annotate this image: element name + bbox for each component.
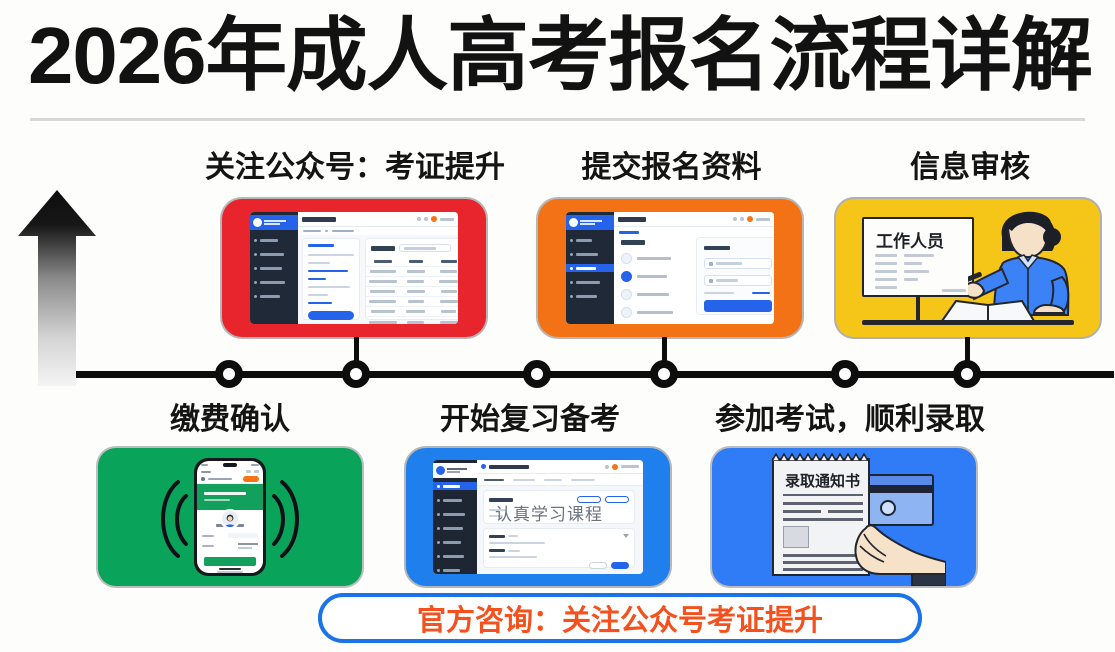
notch (223, 463, 237, 467)
user-name (756, 218, 770, 221)
cell (399, 300, 432, 303)
checklist-item-3[interactable] (621, 289, 689, 300)
status-time (201, 464, 208, 466)
notice-text (208, 478, 232, 480)
sidebar-item-1-active[interactable] (433, 482, 477, 490)
sidebar-item-3[interactable] (433, 510, 477, 518)
sidebar-item-4[interactable] (250, 278, 298, 286)
step-label-4: 缴费确认 (140, 402, 320, 438)
sidebar-item-3[interactable] (250, 264, 298, 272)
cell (432, 310, 458, 313)
cell (399, 310, 432, 313)
more-icon[interactable] (254, 470, 259, 473)
sidebar-item-1[interactable] (566, 236, 614, 244)
form-sidebar[interactable] (566, 212, 614, 324)
checklist-heading (621, 240, 645, 245)
card-top-band (870, 476, 932, 485)
open-book-icon (940, 297, 1036, 323)
field-id-input[interactable] (704, 275, 772, 286)
step-card-4[interactable] (98, 448, 362, 586)
detail-label (202, 545, 214, 547)
id-icon (709, 279, 713, 283)
cell (399, 280, 432, 283)
cell (432, 300, 458, 303)
board-line (875, 262, 897, 265)
title-band: 2026年成人高考报名流程详解 (0, 0, 1115, 116)
chevron-down-icon[interactable] (623, 534, 629, 538)
course-sidebar[interactable] (433, 460, 477, 574)
help-icon[interactable] (740, 217, 744, 221)
cell (366, 290, 399, 293)
breadcrumb (298, 227, 458, 235)
chapter-list-panel (483, 528, 635, 568)
column-header (366, 260, 399, 263)
step-card-6[interactable]: 录取通知书 (712, 448, 976, 586)
hand-icon (850, 516, 946, 586)
footer-note (217, 571, 243, 573)
step-card-2[interactable] (538, 199, 802, 337)
board-stand (916, 295, 920, 321)
app-title (201, 471, 211, 473)
sidebar-item-7[interactable] (433, 566, 477, 574)
timeline-stem-6 (965, 337, 970, 363)
table-row[interactable] (366, 277, 458, 287)
dashboard-sidebar[interactable] (250, 212, 298, 324)
table-header (366, 256, 458, 267)
board-line (904, 278, 918, 281)
timeline-node-6[interactable] (953, 360, 981, 388)
board-line (875, 270, 897, 273)
table-row[interactable] (366, 287, 458, 297)
logo-mark (569, 218, 578, 227)
column-header (432, 260, 458, 263)
sidebar-item-2[interactable] (433, 496, 477, 504)
filter-panel (302, 238, 360, 320)
table-row[interactable] (366, 317, 458, 324)
bell-icon[interactable] (733, 217, 737, 221)
course-main: 认真学习课程 (477, 460, 643, 574)
cell (366, 300, 399, 303)
check-circle-filled-icon (621, 271, 632, 282)
timeline-node-3[interactable] (831, 360, 859, 388)
signal-arcs-left-icon (134, 476, 190, 562)
timeline-stem-4 (354, 337, 359, 363)
phone-device (194, 458, 266, 576)
letter-line (828, 510, 863, 513)
signal-arcs-right-icon (270, 476, 326, 562)
board-line (904, 262, 922, 265)
timeline-stem-5 (662, 337, 667, 363)
filter-row-5 (308, 286, 350, 288)
user-name (440, 218, 454, 221)
material-checklist (621, 240, 689, 318)
confirm-payment-button[interactable] (204, 557, 256, 566)
help-icon[interactable] (424, 217, 428, 221)
cell (399, 270, 432, 273)
filter-row-3[interactable] (308, 270, 348, 272)
app-bar (197, 468, 263, 475)
submit-form-panel (696, 237, 774, 315)
form-topbar (614, 212, 774, 227)
step-label-2: 提交报名资料 (559, 150, 784, 186)
continue-button[interactable] (611, 562, 629, 569)
cell (366, 280, 399, 283)
board-line (875, 254, 897, 257)
check-circle-icon (621, 307, 632, 318)
letter-line (783, 502, 863, 505)
search-icon[interactable] (605, 465, 609, 469)
board-title: 工作人员 (876, 227, 944, 252)
check-circle-icon (621, 289, 632, 300)
breadcrumb (614, 227, 774, 235)
checklist-item-1[interactable] (621, 253, 689, 264)
brand-name (264, 220, 286, 225)
bell-icon[interactable] (417, 217, 421, 221)
board-line (875, 278, 897, 281)
up-arrow-icon (18, 190, 96, 386)
app-logo-icon (481, 464, 486, 469)
form-hint (704, 292, 734, 294)
sidebar-item-5[interactable] (250, 292, 298, 300)
step-label-1: 关注公众号：考证提升 (175, 150, 535, 186)
filter-row-1 (308, 254, 354, 256)
letter-seal-box (783, 526, 809, 548)
hero-sub (204, 499, 230, 501)
tab-4[interactable] (571, 479, 595, 481)
sidebar-item-5[interactable] (433, 538, 477, 546)
filter-row-6 (308, 294, 328, 296)
column-header (399, 260, 432, 263)
phone-screen (197, 461, 263, 573)
avatar[interactable] (747, 216, 753, 222)
form-link[interactable] (752, 292, 770, 294)
brand-logo (566, 215, 614, 230)
sidebar-item-4[interactable] (433, 524, 477, 532)
topbar-title (489, 465, 529, 469)
timeline-node-4[interactable] (342, 360, 370, 388)
chapter-title (489, 549, 505, 552)
chapter-title (489, 535, 505, 538)
logo-mark (253, 218, 262, 227)
sidebar-item-2[interactable] (250, 250, 298, 258)
avatar[interactable] (612, 464, 618, 470)
admin-dashboard-screen (250, 212, 458, 324)
cell (399, 290, 432, 293)
step-label-5: 开始复习备考 (415, 402, 645, 438)
detail-value (238, 543, 258, 549)
registration-form-screen (566, 212, 774, 324)
title-divider (30, 118, 1085, 121)
tab-3[interactable] (544, 479, 562, 481)
field-name-input[interactable] (704, 258, 772, 269)
search-input[interactable] (399, 244, 451, 252)
filter-heading (308, 244, 334, 247)
sidebar-item-1[interactable] (250, 236, 298, 244)
table-row[interactable] (366, 297, 458, 307)
notice-row (197, 475, 263, 484)
step-card-3[interactable]: 工作人员 (836, 199, 1100, 337)
submit-button[interactable] (704, 300, 772, 312)
board-line (875, 286, 897, 289)
detail-label (202, 535, 214, 537)
avatar[interactable] (431, 216, 437, 222)
payment-hero (197, 484, 263, 510)
home-indicator (219, 568, 241, 570)
detail-value (228, 533, 258, 538)
step-card-1[interactable] (222, 199, 486, 337)
table-row[interactable] (366, 267, 458, 277)
course-topbar (477, 460, 643, 474)
sidebar-item-4[interactable] (566, 278, 614, 286)
board-line (904, 270, 929, 273)
detail-row (197, 538, 263, 549)
cell (432, 321, 458, 324)
topbar-title (618, 217, 646, 222)
cell (432, 270, 458, 273)
checklist-item-4[interactable] (621, 307, 689, 318)
timeline-node-5[interactable] (650, 360, 678, 388)
status-battery (251, 464, 259, 466)
tab-1[interactable] (484, 479, 504, 481)
brand-logo (433, 463, 477, 478)
card-stripe (870, 485, 932, 493)
notice-board: 工作人员 (862, 217, 974, 297)
step-label-6: 参加考试，顺利录取 (690, 402, 1010, 438)
sidebar-item-3-active[interactable] (566, 264, 614, 272)
bell-icon (201, 477, 205, 481)
cell (432, 290, 458, 293)
user-name (621, 465, 639, 468)
letter-title: 录取通知书 (785, 470, 860, 491)
brand-logo (250, 215, 298, 230)
learning-platform-screen: 认真学习课程 (433, 460, 643, 574)
timeline-node-2[interactable] (523, 360, 551, 388)
cta-text: 官方咨询：关注公众号考证提升 (417, 597, 823, 639)
records-panel (365, 238, 458, 320)
dashboard-topbar (298, 212, 458, 227)
chapter-meta (508, 550, 520, 552)
board-line (904, 254, 934, 257)
table-row[interactable] (366, 307, 458, 317)
letter-line (783, 510, 821, 513)
letter-rule (783, 494, 863, 496)
check-circle-icon (621, 253, 632, 264)
cell (399, 321, 432, 324)
step-label-3: 信息审核 (880, 150, 1060, 186)
filter-row-7[interactable] (308, 302, 332, 304)
hero-title (204, 492, 246, 495)
timeline-node-1[interactable] (215, 360, 243, 388)
brand-name (580, 220, 602, 225)
cta-banner[interactable]: 官方咨询：关注公众号考证提升 (318, 593, 922, 643)
step-card-5[interactable]: 认真学习课程 (406, 448, 670, 586)
cell (432, 280, 458, 283)
course-tabs[interactable] (477, 474, 643, 486)
table-title (371, 246, 395, 251)
cell (366, 310, 399, 313)
form-heading (704, 246, 730, 250)
form-main (614, 212, 774, 324)
panel-action-2[interactable] (605, 496, 629, 503)
action-badge[interactable] (243, 476, 259, 482)
page-title: 2026年成人高考报名流程详解 (28, 8, 1115, 104)
logo-mark (436, 466, 445, 475)
filter-submit-button[interactable] (308, 311, 354, 320)
cancel-button[interactable] (589, 562, 607, 569)
card-photo (880, 500, 896, 516)
brand-name (447, 468, 467, 473)
dashboard-main (298, 212, 458, 324)
sidebar-item-5[interactable] (566, 292, 614, 300)
sidebar-item-6[interactable] (433, 552, 477, 560)
cell (366, 321, 399, 324)
menu-icon[interactable] (246, 470, 251, 473)
study-overlay-text: 认真学习课程 (495, 500, 603, 525)
checklist-item-2[interactable] (621, 271, 689, 282)
board-line (942, 289, 966, 292)
sidebar-item-2[interactable] (566, 250, 614, 258)
user-icon (709, 262, 713, 266)
tab-2[interactable] (513, 479, 535, 481)
phone-status-bar (197, 461, 263, 468)
chapter-meta (508, 535, 518, 537)
topbar-title (302, 217, 336, 222)
avatar (220, 509, 240, 529)
cell (366, 270, 399, 273)
filter-row-2 (308, 262, 330, 264)
filter-row-4[interactable] (308, 278, 326, 280)
